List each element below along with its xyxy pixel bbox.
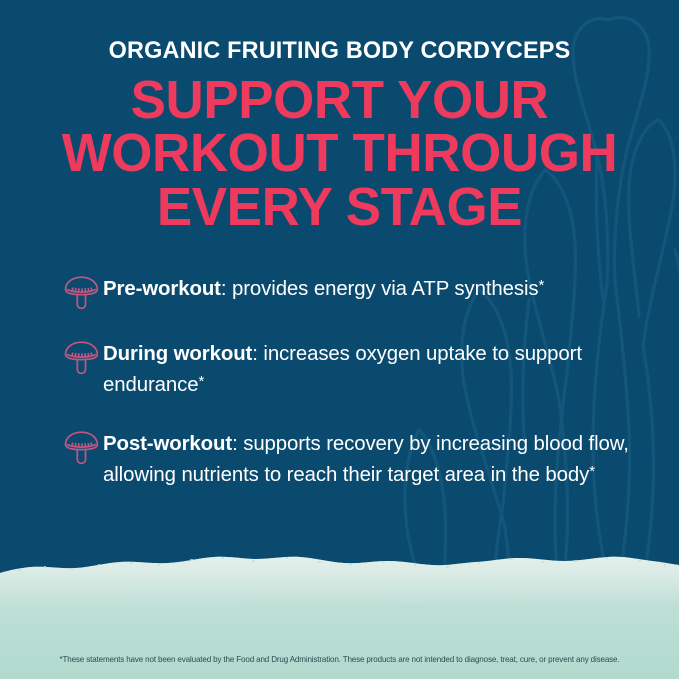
benefit-list: Pre-workout: provides energy via ATP syn… [61,272,641,491]
list-item: During workout: increases oxygen uptake … [61,337,641,401]
page-title: SUPPORT YOUR WORKOUT THROUGH EVERY STAGE [7,74,672,234]
cordyceps-promo-graphic: ORGANIC FRUITING BODY CORDYCEPS SUPPORT … [0,0,679,679]
headline-block: ORGANIC FRUITING BODY CORDYCEPS SUPPORT … [0,38,679,234]
headline-line-1: SUPPORT YOUR [7,74,672,127]
benefit-lead-label: Post-workout [103,433,232,455]
benefit-separator: : [221,278,232,300]
eyebrow-text: ORGANIC FRUITING BODY CORDYCEPS [15,38,663,65]
mushroom-icon [61,428,103,466]
list-item: Post-workout: supports recovery by incre… [61,427,641,491]
benefit-body-text: provides energy via ATP synthesis [232,278,539,300]
headline-line-3: EVERY STAGE [7,181,672,234]
headline-line-2: WORKOUT THROUGH [7,127,672,180]
benefit-separator: : [232,433,243,455]
mushroom-icon [61,273,103,311]
list-item-text: Post-workout: supports recovery by incre… [103,427,641,491]
benefit-lead-label: During workout [103,343,252,365]
footnote-marker: * [198,373,204,390]
torn-paper-footer: *These statements have not been evaluate… [0,555,679,679]
benefit-separator: : [252,343,263,365]
footnote-marker: * [589,463,595,480]
fda-disclaimer-text: *These statements have not been evaluate… [10,654,669,665]
mushroom-icon [61,338,103,376]
benefit-lead-label: Pre-workout [103,278,221,300]
list-item: Pre-workout: provides energy via ATP syn… [61,272,641,311]
list-item-text: Pre-workout: provides energy via ATP syn… [103,272,641,305]
footnote-marker: * [539,277,545,294]
list-item-text: During workout: increases oxygen uptake … [103,337,641,401]
